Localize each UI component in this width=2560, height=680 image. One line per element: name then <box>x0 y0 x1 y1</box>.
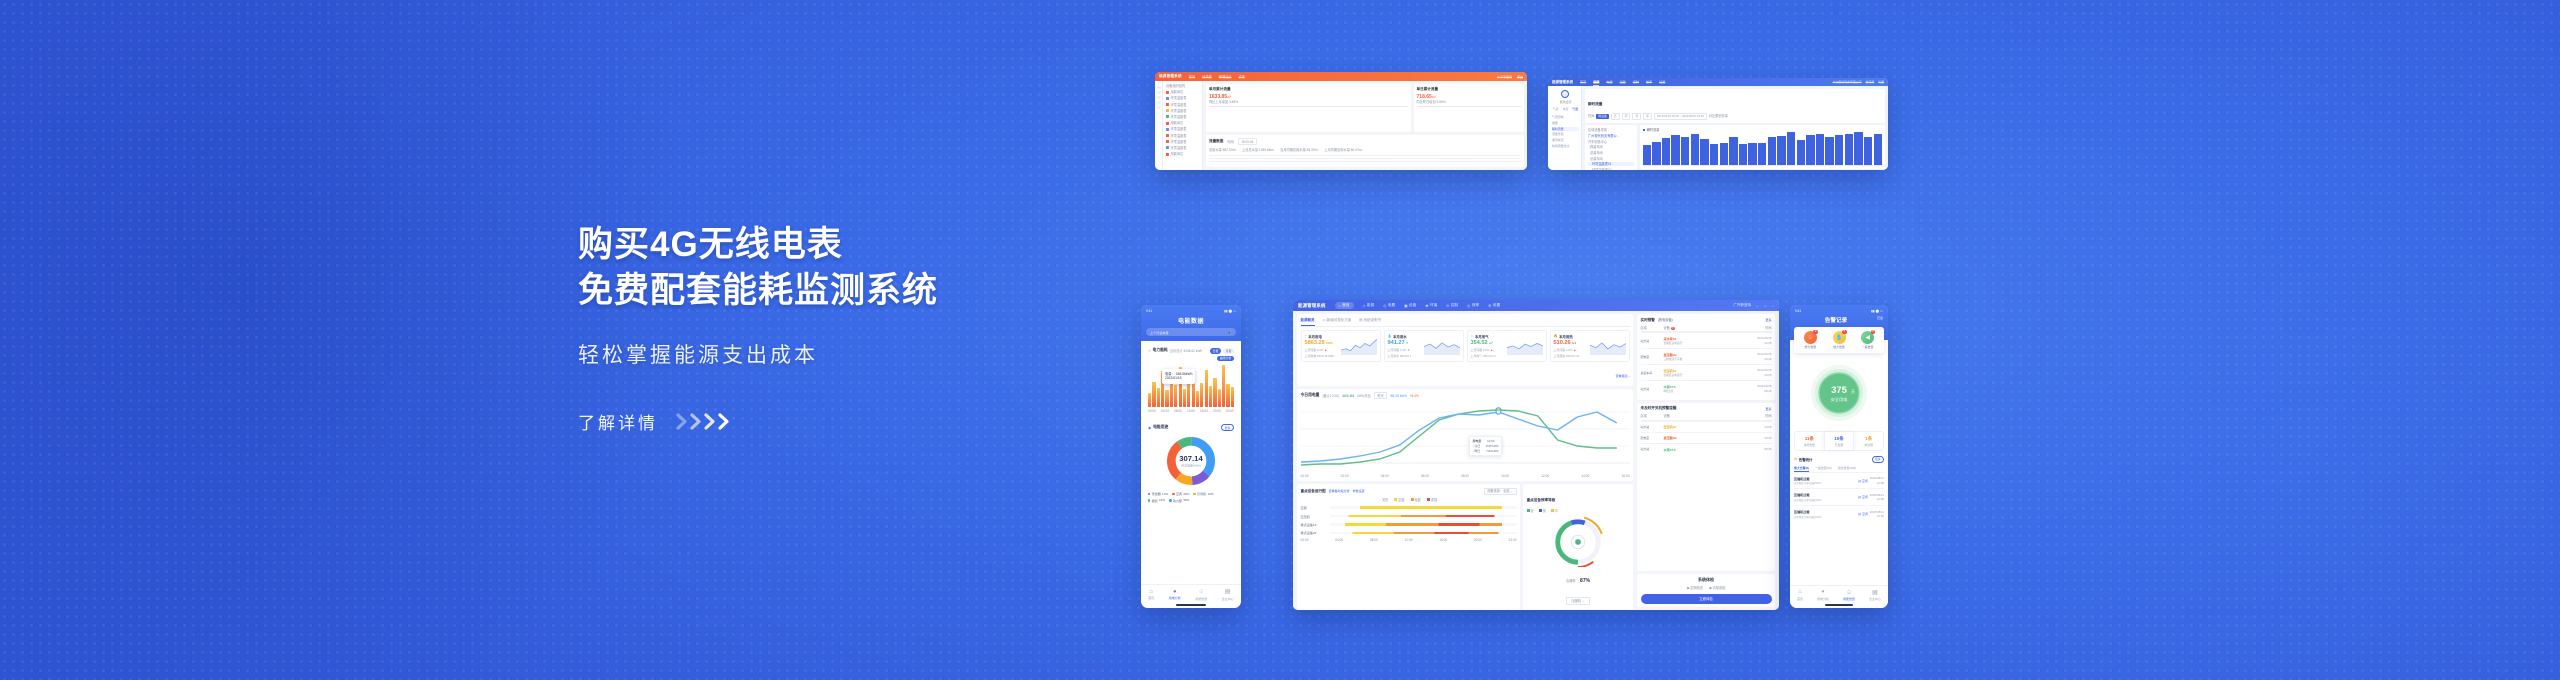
stat-pending: 1条未处理 <box>1854 432 1883 450</box>
key-device-runtime-card: 重点设备运行图 查看各时段分析 参数设置 设备选择：全选 ⌄ ▫ 关机 空载 轻… <box>1297 484 1520 610</box>
table-stat: 当月同期总用水量 85.37m³ <box>1280 148 1318 152</box>
line-tooltip: 用电量12:00 ◦ 今日8.55 kWh ◦ 昨日7.83 kWh <box>1469 436 1503 456</box>
table-title: 流量数据 <box>1209 139 1223 144</box>
bar <box>1854 132 1862 165</box>
donut-center-label: 月总电量(kWh) <box>1181 463 1201 468</box>
untimely-switch-alerts-card[interactable]: 未及时开关机预警提醒 更多 区域 设备 时间 动力站空压机3#10:05 配电室… <box>1637 403 1775 571</box>
sidebar-title: 能质监测 <box>1552 100 1579 104</box>
promo-banner: 购买4G无线电表 免费配套能耗监测系统 轻松掌握能源支出成本 了解详情 能源管理… <box>0 0 2560 680</box>
sparkline <box>1507 338 1543 355</box>
list-tab-active[interactable]: 重大告警(6) <box>1794 466 1809 472</box>
sparkline <box>1590 338 1626 355</box>
chevron-down-icon[interactable]: ⌄ <box>1756 304 1759 308</box>
col-header: 设备 <box>1664 414 1763 418</box>
sidebar-tab-active[interactable]: 气量 <box>1572 107 1578 111</box>
bar <box>1231 387 1234 408</box>
bar <box>1758 143 1766 165</box>
search-input[interactable]: 上个月总电量 🎤 <box>1146 328 1236 336</box>
bar <box>1152 382 1155 408</box>
start-checkup-button[interactable]: 立即体检 <box>1641 594 1772 604</box>
line-value: 103.54 <box>1342 393 1354 398</box>
blue-bar-chart <box>1643 132 1883 166</box>
gantt-row: 重点设备2# <box>1301 530 1517 535</box>
legend-swatch <box>1643 129 1646 132</box>
tooltip-date: 2022/01/15 <box>1165 376 1192 381</box>
section-title: 电力能耗 <box>1153 348 1168 353</box>
bar <box>1681 137 1689 166</box>
curve-analysis-button[interactable]: 曲线分析 <box>1217 356 1234 362</box>
tab-daily[interactable]: 日报 <box>1210 348 1221 354</box>
x-tick: 12:00 <box>1405 538 1413 542</box>
nav-item-settings[interactable]: ⚙设置 <box>1488 302 1500 310</box>
gauge-legend-good: 优 <box>1527 509 1534 513</box>
screenshot-orange-dashboard[interactable]: 能源管理系统 首页 记录表 管理站点 设置 广汽菲亚特 退出 设备组织结构 用能… <box>1155 72 1527 170</box>
tree-item[interactable]: 环境温度表02 <box>1588 168 1634 170</box>
tab-enterprise-center[interactable]: ▤企业中心 <box>1222 588 1234 600</box>
stat-weekly: 11条本周告警 <box>1795 432 1824 450</box>
x-tick: 20:00 <box>1474 538 1482 542</box>
line-sub: (截止12:00) <box>1322 394 1338 398</box>
legend-item: 插管 10% <box>1148 498 1165 503</box>
status-time: 9:41 <box>1795 309 1801 313</box>
x-tick: 00:00 <box>1301 538 1309 542</box>
blue-flow-chart-panel: 瞬时流量 <box>1640 125 1886 169</box>
bar <box>1174 385 1177 407</box>
tab-energy-alert[interactable]: ♤用能告警 <box>1195 588 1207 600</box>
x-tick: 08:00 <box>1461 474 1469 478</box>
orange-flow-table[interactable]: 流量数据 时间 2019-06 总用水量 887.37m³ 上月总水量 1050… <box>1206 135 1524 167</box>
nav-item-energy[interactable]: ◇能源 <box>1363 302 1375 310</box>
tab-home[interactable]: ⌂首页 <box>1148 589 1154 600</box>
subnav-item[interactable]: ▭ 新增可视化方案 <box>1323 318 1352 324</box>
center-app-title: 能源管理系统 <box>1298 303 1326 309</box>
tab-home[interactable]: ⌂首页 <box>1797 589 1803 600</box>
chevron-right-icon <box>676 413 731 430</box>
orange-day-flow-card: 单日累计流量 718.65m³ 同比昨日增加 5.86% <box>1414 84 1524 132</box>
list-icon: ▤ <box>1794 457 1797 461</box>
safe-days-ring: 375 天 安全用电 <box>1790 363 1888 423</box>
sparkline <box>1424 338 1460 355</box>
lightning-icon: ⚡ <box>1148 349 1151 353</box>
ring-value: 375 <box>1831 385 1848 396</box>
card-title: 单月累计流量 <box>1209 87 1408 92</box>
alarm-stats: 11条本周告警 10条已处理 1条未处理 <box>1794 431 1884 451</box>
gauge-title: 重点设备效率等级 <box>1527 498 1556 502</box>
gauge-legend-fair: 良 <box>1539 509 1546 513</box>
bar <box>1768 137 1776 165</box>
list-tab[interactable]: 一般告警(39) <box>1815 466 1832 472</box>
mic-icon[interactable]: 🎤 <box>1228 330 1232 334</box>
table-stat: 上月总水量 1050.66m³ <box>1242 148 1274 152</box>
efficiency-gauge-card: 重点设备效率等级 优 良 中 <box>1523 484 1633 610</box>
x-tick: 20:00 <box>1213 409 1221 413</box>
gauge-device-select[interactable]: 压缩机 ⌄ <box>1566 597 1589 605</box>
bar <box>1200 383 1203 407</box>
line-unit: kWh/月比 <box>1357 394 1371 398</box>
tree-item[interactable]: 用能单位 <box>1166 152 1199 156</box>
blue-user-link[interactable]: 前海港 <box>1866 80 1875 84</box>
phone-left-title: 电能数据 <box>1146 316 1236 325</box>
nav-item-control[interactable]: ⊙控制 <box>1446 302 1458 310</box>
tree-item[interactable]: 总装车间 <box>1588 157 1634 161</box>
x-tick: 08:00 <box>1370 538 1378 542</box>
alarm-list: ▤ 告警统计 更多 重大告警(6) 一般告警(39) 综合告警(999) 压缩机… <box>1794 456 1884 522</box>
blue-company-label: 广州现代码务有限公司 <box>1833 80 1862 84</box>
alert-row[interactable]: 动力站 水泵KT3B相过流 2021/03/1508:36 <box>1641 380 1772 396</box>
blue-filter-panel[interactable]: 瞬时流量 时间 用设备 日 周 月 年 2019/06/19 00:00 ~ 2… <box>1585 89 1885 123</box>
ring-unit: 天 <box>1851 389 1855 394</box>
gantt-row: 空压机 <box>1301 514 1517 519</box>
panel-title: 瞬时流量 <box>1588 102 1602 106</box>
bar <box>1222 365 1225 407</box>
tree-item-active[interactable]: 环境温度表01 <box>1588 162 1634 166</box>
sidebar-item[interactable]: 时间流量对比 <box>1552 144 1579 148</box>
company-name: 广汽菲亚特 <box>1733 303 1751 308</box>
blue-sidebar[interactable]: 能质监测 气表 水表 气量 气流控制 用量 瞬时流量 流量序值 通讯状况 时间流… <box>1548 86 1582 170</box>
list-title: 告警统计 <box>1799 457 1813 462</box>
nav-item-home[interactable]: ⌂首页 <box>1335 302 1354 310</box>
gauge-legend-avg: 中 <box>1551 509 1558 513</box>
screenshot-phone-energy-app[interactable]: 9:41 ▮▮ ⬤ ▭ 电能数据 上个月总电量 🎤 ⚡ 电力能耗 当月总计 30… <box>1141 305 1241 608</box>
col-header: 设备 6 <box>1664 326 1763 330</box>
heat-icon: 🔥 <box>1554 334 1558 338</box>
tree-item[interactable]: 环境温度表 <box>1166 109 1199 113</box>
bar <box>1652 142 1660 165</box>
blue-nav-item-active[interactable]: 能源 <box>1593 79 1599 86</box>
alarm-row[interactable]: 压缩机过载高于额定功率范围的20% ▤空调 2018/08/1112:56 <box>1794 505 1884 522</box>
compare-select[interactable]: 昨天 <box>1374 392 1388 399</box>
tree-item[interactable]: 环境温度表 <box>1166 140 1199 144</box>
orange-user-area[interactable]: 广汽菲亚特 退出 <box>1497 75 1523 79</box>
nav-item-fee[interactable]: ◷电费 <box>1383 302 1395 310</box>
x-tick: 23:00 <box>1509 538 1517 542</box>
gantt-link[interactable]: 查看各时段分析 <box>1329 489 1350 493</box>
nav-item-efficiency[interactable]: ◎效率 <box>1467 302 1479 310</box>
phone-left-header: 9:41 ▮▮ ⬤ ▭ 电能数据 上个月总电量 🎤 <box>1141 305 1241 341</box>
x-tick: 08:00 <box>1174 409 1182 413</box>
nav-item-device[interactable]: ▣设备 <box>1404 302 1416 310</box>
bar <box>1739 144 1747 165</box>
list-tab[interactable]: 综合告警(999) <box>1838 466 1856 472</box>
blue-nav-item[interactable]: 控制 <box>1633 79 1639 86</box>
quick-general-alarm[interactable]: ◀ 8 一般告警 <box>1853 331 1882 350</box>
orange-nav-item[interactable]: 首页 <box>1189 74 1195 79</box>
center-user-area[interactable]: 广汽菲亚特 ⌄ ♤ ◌ <box>1733 303 1774 308</box>
energy-monitor-icon <box>1561 90 1569 98</box>
blue-nav-item[interactable]: 设备 <box>1620 79 1626 86</box>
kpi-gas: ♨本月用气 354.52 m³ 上月同期 0.6% ▲ 上月用气 352.64 … <box>1467 330 1547 363</box>
orange-device-tree[interactable]: 设备组织结构 用能单位 环境温度表 环境温度表 环境温度表 环境温度表 用能单位… <box>1163 81 1203 170</box>
section-title: 电能用途 <box>1153 425 1168 430</box>
bar <box>1845 134 1853 165</box>
tab-monthly[interactable]: 月报 <box>1223 348 1234 354</box>
compare-checkbox-label[interactable]: 对比累积总量 <box>1709 114 1728 118</box>
sidebar-tab[interactable]: 气表 <box>1553 107 1559 111</box>
gantt-link[interactable]: 参数设置 <box>1353 489 1365 493</box>
bell-icon[interactable]: ♤ <box>1764 304 1767 308</box>
search-value: 上个月总电量 <box>1150 330 1169 335</box>
section-sub: 当月总计 3048.62 kWh <box>1170 349 1202 353</box>
realtime-alerts-card[interactable]: 实时预警 (所有设备) 更多 区域 设备 6 时间 动力站 深水泵3#长期低功率… <box>1637 314 1775 400</box>
alerts2-more-link[interactable]: 更多 <box>1765 407 1771 411</box>
sidebar-item[interactable]: 气流控制 <box>1552 115 1579 119</box>
tree-item[interactable]: 用能单位 <box>1166 90 1199 94</box>
filter-chip[interactable]: 日 <box>1611 113 1620 120</box>
bar <box>1226 384 1229 407</box>
blue-topbar: 能源管理系统 首页 能源 电费 设备 控制 效率 设置 广州现代码务有限公司 前… <box>1548 78 1888 86</box>
blue-user-area[interactable]: 广州现代码务有限公司 前海港 气量 <box>1833 80 1884 84</box>
date-filter-input[interactable]: 2019-06 <box>1238 138 1258 145</box>
ac-icon: ▤ <box>1858 495 1861 499</box>
x-tick: 02:00 <box>1341 474 1349 478</box>
bar <box>1209 386 1212 407</box>
sidebar-item[interactable]: 通讯状况 <box>1552 138 1579 142</box>
status-bar: 9:41 ▮▮ ⬤ ▭ <box>1795 309 1883 313</box>
bar <box>1662 138 1670 165</box>
daily-line-chart: 用电量12:00 ◦ 今日8.55 kWh ◦ 昨日7.83 kWh <box>1301 402 1630 472</box>
alert-row[interactable]: 配电室 变压器H1三相电流不平衡 2021/03/1510:39 <box>1641 348 1772 364</box>
kpi-heat: 🔥本月用热 510.26 GJ 上月同期 2.6% ▲ 上月用热 496.54 … <box>1550 330 1630 363</box>
headline-line-1: 购买4G无线电表 <box>578 222 1138 268</box>
chart-legend: 瞬时流量 <box>1647 128 1660 132</box>
orange-topbar: 能源管理系统 首页 记录表 管理站点 设置 广汽菲亚特 退出 <box>1155 72 1527 81</box>
bar <box>1864 137 1872 165</box>
screenshot-blue-dashboard[interactable]: 能源管理系统 首页 能源 电费 设备 控制 效率 设置 广州现代码务有限公司 前… <box>1548 78 1888 170</box>
blue-nav-item[interactable]: 效率 <box>1646 79 1652 86</box>
filter-chip-active[interactable]: 用设备 <box>1596 114 1608 119</box>
bar <box>1205 370 1208 407</box>
alerts-badge: 6 <box>1671 327 1675 330</box>
orange-bar-chart-day <box>1417 106 1521 107</box>
bar <box>1874 134 1882 166</box>
orange-logout-link[interactable]: 退出 <box>1517 75 1523 79</box>
donut-legend: 传送器 13% 空调 29% 引风机 12% 插管 10% 动力部 36% <box>1148 491 1234 503</box>
filter-chip[interactable]: 年 <box>1643 113 1652 120</box>
center-body: 能源概览 ▭ 新增可视化方案 ▤ 系统说明书 ⚡本月用电 5863.25 kWh… <box>1293 311 1779 610</box>
orange-main: 单月累计流量 1633.85m³ 同比上月增加 3.68% 单日累计流量 718… <box>1203 81 1527 170</box>
status-icons: ▮▮ ⬤ ▭ <box>1871 309 1883 313</box>
blue-device-tree[interactable]: 区域设备导航 广州现代码务有限公... 汽车制造中心 焊装车间 总装车间 总装车… <box>1585 125 1637 170</box>
filter-chip[interactable]: 周 <box>1622 113 1631 120</box>
orange-body: 设备组织结构 用能单位 环境温度表 环境温度表 环境温度表 环境温度表 用能单位… <box>1155 81 1527 170</box>
col-header: 区域 <box>1641 326 1661 330</box>
ac-icon: ▤ <box>1858 512 1861 516</box>
tree-item[interactable]: 汽车制造中心 <box>1588 140 1634 144</box>
tree-root[interactable]: 广州现代码务有限公... <box>1588 134 1634 138</box>
blue-nav-item[interactable]: 电费 <box>1606 79 1612 86</box>
blue-nav-item[interactable]: 设置 <box>1659 79 1665 86</box>
energy-overview-card: 能源概览 ▭ 新增可视化方案 ▤ 系统说明书 ⚡本月用电 5863.25 kWh… <box>1297 314 1633 386</box>
tree-item[interactable]: 环境温度表 <box>1166 146 1199 150</box>
card-title: 单日累计流量 <box>1417 87 1521 92</box>
help-icon[interactable]: ◌ <box>1772 304 1774 308</box>
center-topbar: 能源管理系统 ⌂首页 ◇能源 ◷电费 ▣设备 ❀环境 ⊙控制 ◎效率 ⚙设置 广… <box>1293 300 1779 311</box>
subnav-item[interactable]: ▤ 系统说明书 <box>1359 318 1381 324</box>
tab-energy-alert-active[interactable]: ♤用能告警 <box>1843 589 1855 601</box>
checkup-title: 系统体检 <box>1641 577 1772 583</box>
orange-company-label: 广汽菲亚特 <box>1497 75 1512 79</box>
orange-nav-item[interactable]: 记录表 <box>1202 74 1212 79</box>
alerts-more-link[interactable]: 更多 <box>1765 318 1771 322</box>
screenshot-center-dashboard[interactable]: 能源管理系统 ⌂首页 ◇能源 ◷电费 ▣设备 ❀环境 ⊙控制 ◎效率 ⚙设置 广… <box>1293 300 1779 610</box>
col-header: 时间 <box>1765 326 1771 330</box>
tab-power-analysis[interactable]: ◕用电分析 <box>1169 589 1181 600</box>
legend-item: 引风机 12% <box>1193 491 1213 496</box>
status-icons: ▮▮ ⬤ ▭ <box>1224 309 1236 313</box>
tree-item[interactable]: 焊装车间 <box>1588 145 1634 149</box>
tab-power-analysis[interactable]: ◕用电分析 <box>1817 589 1829 600</box>
kpi-water: 💧本月用水 941.27 T 上月同期 1.6% ▼ 上月用水 956.64 T <box>1384 330 1464 363</box>
x-tick: 04:00 <box>1381 474 1389 478</box>
gauge-value: 87% <box>1580 578 1590 584</box>
more-button[interactable]: 更多 <box>1221 424 1234 432</box>
system-checkup-card[interactable]: 系统体检 ◉ 定期检查 ◉ 清除风险 立即体检 <box>1637 574 1775 607</box>
blue-nav-item[interactable]: 首页 <box>1580 79 1586 86</box>
status-time: 9:41 <box>1146 309 1152 313</box>
x-tick: 00:00 <box>1148 409 1156 413</box>
ring-label: 安全用电 <box>1831 396 1849 403</box>
orange-nav[interactable]: 首页 记录表 管理站点 设置 <box>1189 74 1245 79</box>
legend-item: 传送器 13% <box>1148 491 1168 496</box>
electricity-icon: ⚡ <box>1305 334 1307 338</box>
legend-item: 动力部 36% <box>1169 498 1189 503</box>
filter-chip[interactable]: 月 <box>1632 113 1641 120</box>
filter-label: 时间 <box>1588 114 1594 118</box>
x-tick: 14:00 <box>1581 474 1589 478</box>
ac-icon: ▤ <box>1858 479 1861 483</box>
gantt-legend-light: 轻载 <box>1411 498 1421 502</box>
alarm-row[interactable]: 压缩机过载高于额定功率范围的20% ▤空调 2018/08/1112:56 <box>1794 488 1884 505</box>
headline-line-2: 免费配套能耗监测系统 <box>578 268 1138 314</box>
kpi-electricity: ⚡本月用电 5863.25 kWh 上月同期 9.6% ▲ 上月用电 5319.… <box>1301 330 1381 363</box>
col-header: 区域 <box>1641 414 1661 418</box>
tree-item[interactable]: 环境温度表 <box>1166 115 1199 119</box>
list-more-button[interactable]: 更多 <box>1872 456 1884 463</box>
mark-read-button[interactable]: 已读 <box>1877 316 1883 320</box>
gantt-legend-idle: 空载 <box>1394 498 1404 502</box>
bar <box>1196 391 1199 407</box>
daily-power-line-card: 今日用电量 (截止12:00) 103.54 kWh/月比 昨天 98.25 k… <box>1297 389 1633 482</box>
alert-row[interactable]: 动力站 深水泵3#长期低功率运行 2021/03/1512:35 <box>1641 332 1772 348</box>
orange-chart-cards: 单月累计流量 1633.85m³ 同比上月增加 3.68% 单日累计流量 718… <box>1206 84 1524 132</box>
view-report-link[interactable]: 查看报表 › <box>1616 374 1630 378</box>
tree-item[interactable]: 环境温度表 <box>1166 127 1199 131</box>
phone-left-bar-chart: 电量： 268.56kWh 2022/01/15 <box>1148 365 1234 407</box>
nav-item-environment[interactable]: ❀环境 <box>1425 302 1437 310</box>
table-stat: 总用水量 887.37m³ <box>1209 148 1236 152</box>
blue-gas-link[interactable]: 气量 <box>1878 80 1884 84</box>
tree-item[interactable]: 用能单位 <box>1166 121 1199 125</box>
blue-nav[interactable]: 首页 能源 电费 设备 控制 效率 设置 <box>1580 79 1665 86</box>
screenshot-phone-alarm-app[interactable]: 9:41 ▮▮ ⬤ ▭ 告警记录 已读 ♤ 3 重大告警 💧 5 较大告警 ◀ <box>1790 305 1888 608</box>
bar <box>1643 145 1651 166</box>
col-header: 时间 <box>1765 414 1771 418</box>
alert-row[interactable]: 动力站空压机3#10:05 <box>1641 421 1772 432</box>
line-title: 今日用电量 <box>1301 393 1320 398</box>
tree-item[interactable]: 环境温度表 <box>1166 96 1199 100</box>
table-filter-label: 时间 <box>1227 140 1233 144</box>
water-drop-icon: 💧 <box>1388 334 1392 338</box>
alarm-row[interactable]: 压缩机过载高于额定功率范围的20% ▤空调 2018/08/1112:56 <box>1794 472 1884 489</box>
x-tick: 12:00 <box>1187 409 1195 413</box>
bar <box>1218 389 1221 407</box>
alerts2-title: 未及时开关机预警提醒 <box>1641 406 1677 411</box>
sidebar-tab[interactable]: 水表 <box>1563 107 1569 111</box>
bar <box>1720 143 1728 166</box>
phone-right-title: 告警记录 已读 <box>1795 316 1883 324</box>
bar <box>1777 136 1785 165</box>
line-value2: 98.25 kWh <box>1390 394 1406 398</box>
card-sub: 同比昨日增加 5.86% <box>1417 100 1521 104</box>
tree-item[interactable]: 环境温度表 <box>1166 103 1199 107</box>
plug-icon: ◉ <box>1148 426 1151 430</box>
tree-title: 区域设备导航 <box>1588 128 1634 132</box>
alert-row[interactable]: 配电室变压器H110:39 <box>1641 432 1772 443</box>
quick-major-alarm[interactable]: ♤ 3 重大告警 <box>1796 331 1825 350</box>
learn-more-cta[interactable]: 了解详情 <box>578 409 1138 434</box>
quick-moderate-alarm[interactable]: 💧 5 较大告警 <box>1825 331 1854 350</box>
blue-body: 能质监测 气表 水表 气量 气流控制 用量 瞬时流量 流量序值 通讯状况 时间流… <box>1548 86 1888 170</box>
tab-enterprise-center[interactable]: ▤企业中心 <box>1869 589 1881 601</box>
checkup-feature: ◉ 清除风险 <box>1709 586 1725 590</box>
bar <box>1700 139 1708 165</box>
device-select[interactable]: 设备选择：全选 ⌄ <box>1484 488 1517 495</box>
status-bar: 9:41 ▮▮ ⬤ ▭ <box>1146 309 1236 313</box>
orange-nav-item[interactable]: 管理站点 <box>1219 74 1232 79</box>
bar <box>1691 134 1699 166</box>
bar <box>1710 144 1718 165</box>
bar <box>1183 389 1186 408</box>
donut-center-value: 307.14 <box>1179 454 1203 463</box>
x-tick: 06:00 <box>1421 474 1429 478</box>
sidebar-item[interactable]: 用量 <box>1552 121 1579 125</box>
power-usage-section: ◉ 电能用途 更多 307.14 月总电量(kWh) 传送器 13% <box>1144 420 1238 507</box>
gantt-legend-heavy: 重载 <box>1427 498 1437 502</box>
x-tick: 12:00 <box>1541 474 1549 478</box>
donut-chart: 307.14 月总电量(kWh) <box>1148 435 1234 487</box>
overview-subnav[interactable]: 能源概览 ▭ 新增可视化方案 ▤ 系统说明书 <box>1301 318 1630 327</box>
orange-icon-rail[interactable] <box>1155 81 1163 170</box>
x-tick: 10:00 <box>1501 474 1509 478</box>
alert-row[interactable]: 总装车间 空压机3#长期低功率运行 2021/03/1510:05 <box>1641 364 1772 380</box>
gantt-title: 重点设备运行图 <box>1301 489 1326 494</box>
date-range-input[interactable]: 2019/06/19 00:00 ~ 2019/06/19 23:45 <box>1654 113 1707 120</box>
center-nav[interactable]: ⌂首页 ◇能源 ◷电费 ▣设备 ❀环境 ⊙控制 ◎效率 ⚙设置 <box>1335 302 1501 310</box>
orange-nav-item[interactable]: 设置 <box>1238 74 1244 79</box>
tree-item[interactable]: 总装车间 <box>1588 151 1634 155</box>
table-stat: 上月同期总用水量 86.07m³ <box>1324 148 1362 152</box>
bar <box>1187 380 1190 407</box>
alert-row[interactable]: 动力站水泵KT308:36 <box>1641 443 1772 454</box>
learn-more-label: 了解详情 <box>578 409 658 434</box>
stat-handled[interactable]: 10条已处理 <box>1824 432 1855 450</box>
banner-copy: 购买4G无线电表 免费配套能耗监测系统 轻松掌握能源支出成本 了解详情 <box>578 222 1138 434</box>
home-indicator <box>1825 604 1853 606</box>
alarm-quick-stats[interactable]: ♤ 3 重大告警 💧 5 较大告警 ◀ 8 一般告警 <box>1794 327 1884 354</box>
orange-app-title: 能源管理系统 <box>1159 74 1182 79</box>
sidebar-item[interactable]: 流量序值 <box>1552 132 1579 136</box>
tree-item[interactable]: 环境温度表 <box>1166 134 1199 138</box>
x-tick: 16:00 <box>1200 409 1208 413</box>
x-tick: 04:00 <box>1161 409 1169 413</box>
gauge-label: 合格率 <box>1566 579 1576 583</box>
legend-item: 空调 29% <box>1172 491 1189 496</box>
subnav-active[interactable]: 能源概览 <box>1301 318 1315 327</box>
x-tick: 00:00 <box>1301 474 1309 478</box>
gas-icon: ♨ <box>1471 334 1474 338</box>
bar <box>1816 134 1824 166</box>
sidebar-item-active[interactable]: 瞬时流量 <box>1552 127 1579 131</box>
